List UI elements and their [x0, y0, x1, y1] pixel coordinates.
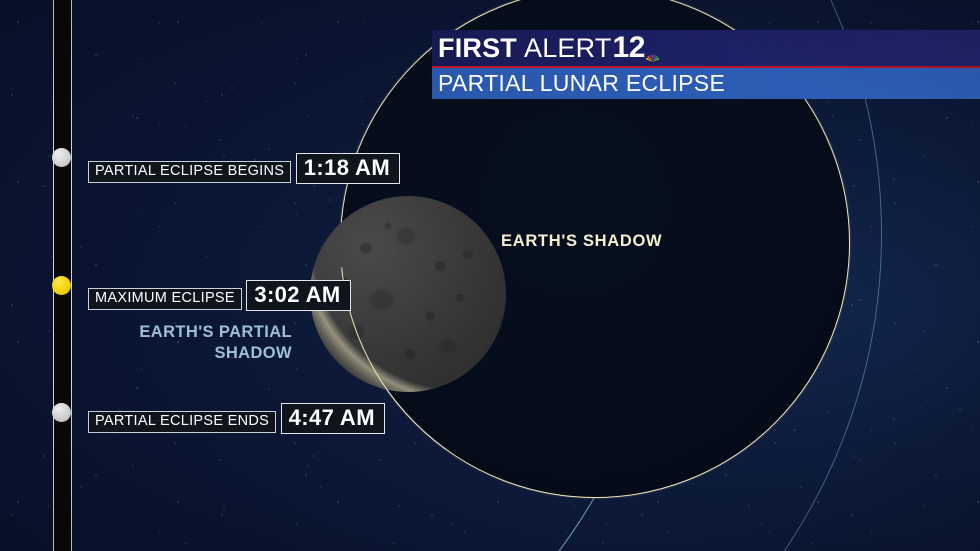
event-maximum-eclipse: MAXIMUM ECLIPSE 3:02 AM [88, 277, 351, 311]
branding-title-bar: FIRST ALERT 12 [432, 30, 980, 66]
graphic-subtitle: PARTIAL LUNAR ECLIPSE [438, 72, 725, 95]
brand-first-text: FIRST [438, 35, 517, 62]
timeline-marker-partial-eclipse-ends [52, 403, 71, 422]
earths-partial-shadow-label-line2: SHADOW [112, 343, 292, 364]
timeline-marker-maximum-eclipse [52, 276, 71, 295]
brand-channel-number: 12 [613, 33, 645, 63]
event-partial-eclipse-ends: PARTIAL ECLIPSE ENDS 4:47 AM [88, 400, 385, 434]
earths-partial-shadow-label-line1: EARTH'S PARTIAL [112, 322, 292, 343]
event-time: 1:18 AM [296, 153, 400, 184]
lunar-eclipse-graphic: EARTH'S SHADOW EARTH'S PARTIAL SHADOW PA… [0, 0, 980, 551]
event-title: PARTIAL ECLIPSE BEGINS [88, 161, 291, 183]
earths-partial-shadow-label: EARTH'S PARTIAL SHADOW [112, 322, 292, 364]
event-time: 3:02 AM [246, 280, 350, 311]
event-time: 4:47 AM [281, 403, 385, 434]
brand-alert-text: ALERT [524, 35, 612, 62]
nbc-peacock-icon [646, 51, 659, 64]
event-partial-eclipse-begins: PARTIAL ECLIPSE BEGINS 1:18 AM [88, 150, 400, 184]
branding-subtitle-bar: PARTIAL LUNAR ECLIPSE [432, 68, 980, 99]
event-title: MAXIMUM ECLIPSE [88, 288, 242, 310]
earths-shadow-label: EARTH'S SHADOW [501, 232, 662, 251]
timeline-marker-partial-eclipse-begins [52, 148, 71, 167]
station-branding-banner: FIRST ALERT 12 PARTIAL [432, 30, 980, 99]
event-title: PARTIAL ECLIPSE ENDS [88, 411, 276, 433]
